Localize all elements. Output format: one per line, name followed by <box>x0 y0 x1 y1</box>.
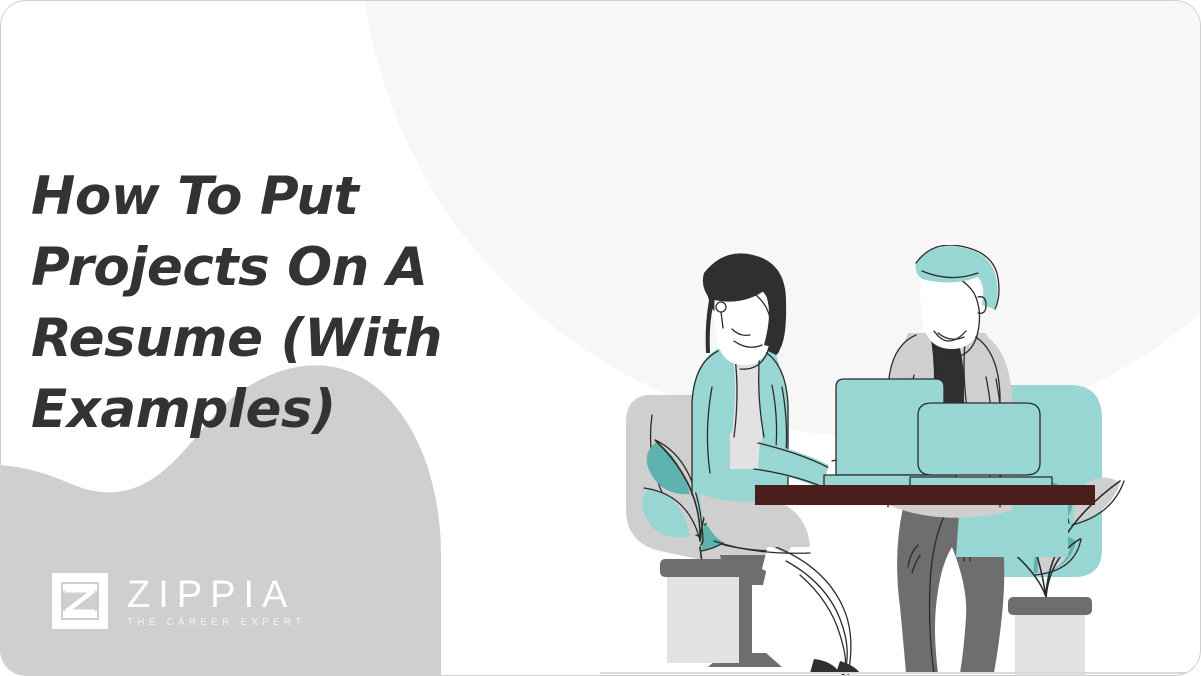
logo-text-block: ZIPPIA THE CAREER EXPERT <box>127 573 305 629</box>
page-title: How To Put Projects On A Resume (With Ex… <box>31 161 591 445</box>
logo-wordmark: ZIPPIA <box>127 575 305 615</box>
zippia-logo[interactable]: ZIPPIA THE CAREER EXPERT <box>52 573 305 629</box>
logo-tagline: THE CAREER EXPERT <box>127 617 305 629</box>
desk <box>755 485 1095 505</box>
zippia-z-mark-icon <box>52 573 108 629</box>
hero-illustration: .ln { fill:none; stroke:#2b2b2b; stroke-… <box>600 245 1200 675</box>
hero-banner: How To Put Projects On A Resume (With Ex… <box>0 0 1201 676</box>
